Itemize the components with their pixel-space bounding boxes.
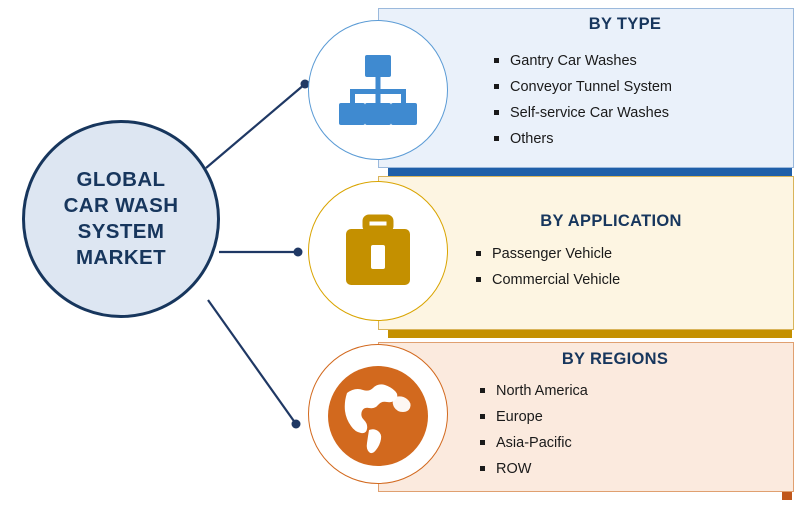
branch-panel-application: BY APPLICATION Passenger Vehicle Commerc… <box>300 176 792 340</box>
branch-panel-type: BY TYPE Gantry Car Washes Conveyor Tunne… <box>300 8 792 172</box>
globe-icon <box>309 345 446 482</box>
panel-icon-circle-regions <box>308 344 448 484</box>
panel-list-application: Passenger Vehicle Commercial Vehicle <box>458 241 620 293</box>
panel-icon-circle-application <box>308 181 448 321</box>
list-item: Conveyor Tunnel System <box>494 74 672 100</box>
connector-line-regions <box>208 300 296 424</box>
panel-list-regions: North America Europe Asia-Pacific ROW <box>462 378 588 482</box>
panel-list-type: Gantry Car Washes Conveyor Tunnel System… <box>476 48 672 152</box>
branch-panel-regions: BY REGIONS North America Europe Asia-Pac… <box>300 342 792 506</box>
connector-line-type <box>206 84 305 168</box>
central-hub-label: GLOBAL CAR WASH SYSTEM MARKET <box>64 167 179 272</box>
panel-heading-type: BY TYPE <box>460 15 790 34</box>
list-item: ROW <box>480 456 588 482</box>
list-item: North America <box>480 378 588 404</box>
panel-heading-application: BY APPLICATION <box>446 212 776 231</box>
briefcase-icon <box>309 182 446 319</box>
list-item: Asia-Pacific <box>480 430 588 456</box>
org-chart-icon <box>309 21 446 158</box>
list-item: Gantry Car Washes <box>494 48 672 74</box>
diagram-canvas: GLOBAL CAR WASH SYSTEM MARKET BY TYPE Ga… <box>0 0 800 506</box>
list-item: Passenger Vehicle <box>476 241 620 267</box>
list-item: Commercial Vehicle <box>476 267 620 293</box>
panel-icon-circle-type <box>308 20 448 160</box>
panel-heading-regions: BY REGIONS <box>450 350 780 369</box>
list-item: Self-service Car Washes <box>494 100 672 126</box>
list-item: Others <box>494 126 672 152</box>
central-hub: GLOBAL CAR WASH SYSTEM MARKET <box>22 120 220 318</box>
list-item: Europe <box>480 404 588 430</box>
